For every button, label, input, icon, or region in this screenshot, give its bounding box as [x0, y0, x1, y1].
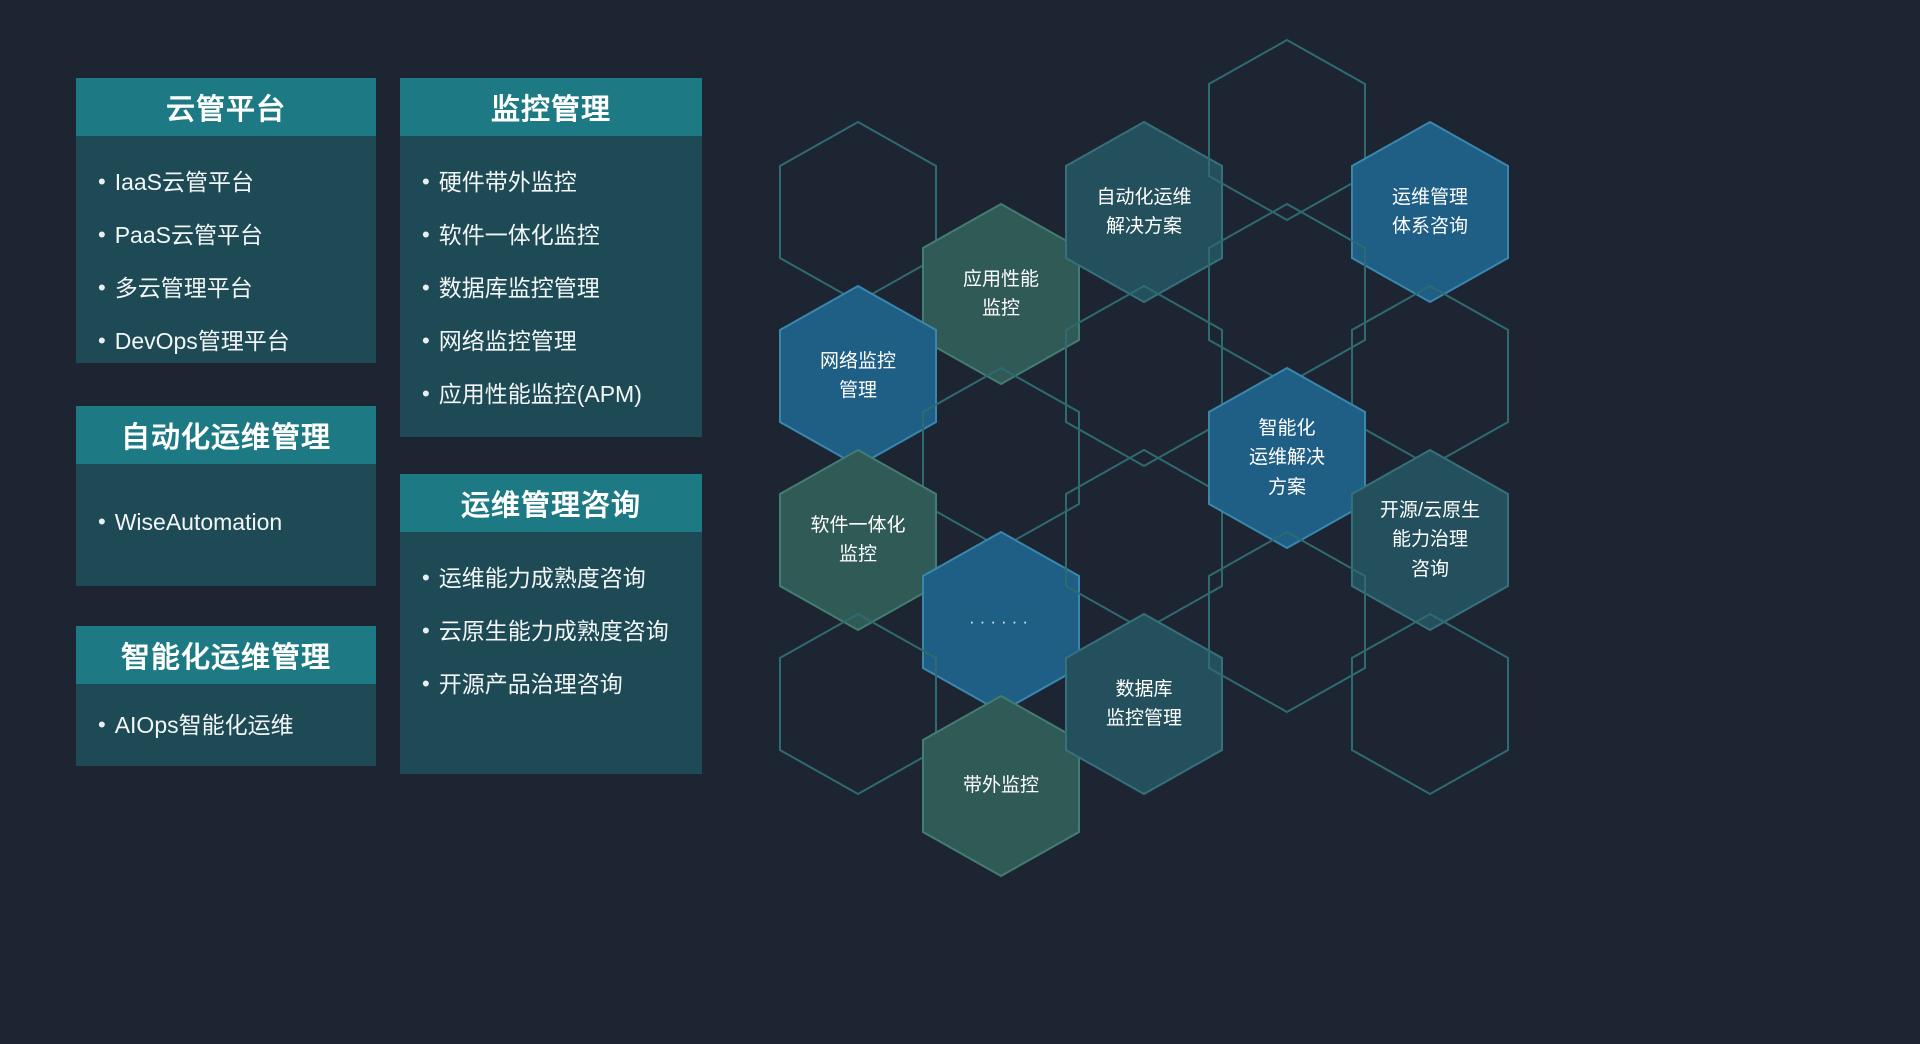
hexagon-cell: 智能化运维解决方案: [1207, 366, 1367, 550]
hexagon-cell: [1207, 530, 1367, 714]
list-item-label: DevOps管理平台: [115, 326, 366, 357]
list-item-label: WiseAutomation: [115, 507, 366, 538]
list-item-label: 云原生能力成熟度咨询: [439, 616, 692, 647]
list-item-label: 多云管理平台: [115, 273, 366, 304]
hexagon-shape-icon: [1350, 284, 1510, 468]
list-item-label: 开源产品治理咨询: [439, 669, 692, 700]
hexagon-cell: 软件一体化监控: [778, 448, 938, 632]
hexagon-cell: [1350, 612, 1510, 796]
hexagon-cell: [1207, 202, 1367, 386]
card-title: 监控管理: [400, 78, 702, 136]
hexagon-shape-icon: [1207, 530, 1367, 714]
hexagon-shape-icon: [1350, 120, 1510, 304]
list-item-label: 软件一体化监控: [439, 220, 692, 251]
list-item: •PaaS云管平台: [98, 220, 366, 251]
card-body: •AIOps智能化运维: [76, 684, 376, 766]
hexagon-diagram: 应用性能监控自动化运维解决方案运维管理体系咨询网络监控管理软件一体化监控····…: [760, 0, 1920, 1044]
hexagon-shape-icon: [1064, 448, 1224, 632]
hexagon-shape-icon: [1350, 448, 1510, 632]
hexagon-cell: [921, 366, 1081, 550]
card-title: 运维管理咨询: [400, 474, 702, 532]
list-item: •开源产品治理咨询: [422, 669, 692, 700]
hexagon-cell: 应用性能监控: [921, 202, 1081, 386]
card-body: •硬件带外监控•软件一体化监控•数据库监控管理•网络监控管理•应用性能监控(AP…: [400, 136, 702, 437]
hexagon-shape-icon: [1207, 366, 1367, 550]
list-item: •硬件带外监控: [422, 167, 692, 198]
bullet-dot-icon: •: [98, 710, 106, 740]
bullet-dot-icon: •: [98, 273, 106, 303]
hexagon-shape-icon: [921, 202, 1081, 386]
card-body: •IaaS云管平台•PaaS云管平台•多云管理平台•DevOps管理平台: [76, 136, 376, 363]
bullet-dot-icon: •: [422, 669, 430, 699]
hexagon-cell: [778, 120, 938, 304]
list-item: •软件一体化监控: [422, 220, 692, 251]
hexagon-cell: ······: [921, 530, 1081, 714]
hexagon-shape-icon: [1064, 120, 1224, 304]
hexagon-cell: 带外监控: [921, 694, 1081, 878]
bullet-dot-icon: •: [422, 326, 430, 356]
bullet-dot-icon: •: [98, 220, 106, 250]
card-body: •运维能力成熟度咨询•云原生能力成熟度咨询•开源产品治理咨询: [400, 532, 702, 774]
list-item: •AIOps智能化运维: [98, 710, 366, 741]
list-item: •应用性能监控(APM): [422, 379, 692, 410]
bullet-dot-icon: •: [98, 326, 106, 356]
bullet-dot-icon: •: [422, 563, 430, 593]
list-item-label: 应用性能监控(APM): [439, 379, 692, 410]
card-title: 云管平台: [76, 78, 376, 136]
list-item: •WiseAutomation: [98, 507, 366, 538]
cards-panel: 云管平台•IaaS云管平台•PaaS云管平台•多云管理平台•DevOps管理平台…: [0, 0, 880, 1044]
list-item-label: 数据库监控管理: [439, 273, 692, 304]
card-title: 自动化运维管理: [76, 406, 376, 464]
bullet-dot-icon: •: [422, 273, 430, 303]
list-item: •数据库监控管理: [422, 273, 692, 304]
bullet-dot-icon: •: [98, 507, 106, 537]
list-item-label: 网络监控管理: [439, 326, 692, 357]
list-item: •DevOps管理平台: [98, 326, 366, 357]
hexagon-shape-icon: [1064, 284, 1224, 468]
hexagon-cell: [1064, 448, 1224, 632]
card-consult: 运维管理咨询•运维能力成熟度咨询•云原生能力成熟度咨询•开源产品治理咨询: [400, 474, 702, 774]
list-item-label: AIOps智能化运维: [115, 710, 366, 741]
card-monitor: 监控管理•硬件带外监控•软件一体化监控•数据库监控管理•网络监控管理•应用性能监…: [400, 78, 702, 437]
hexagon-cell: 网络监控管理: [778, 284, 938, 468]
hexagon-shape-icon: [778, 448, 938, 632]
hexagon-shape-icon: [1207, 38, 1367, 222]
card-title: 智能化运维管理: [76, 626, 376, 684]
hexagon-shape-icon: [1350, 612, 1510, 796]
hexagon-cell: 自动化运维解决方案: [1064, 120, 1224, 304]
hexagon-shape-icon: [921, 366, 1081, 550]
hexagon-cell: 数据库监控管理: [1064, 612, 1224, 796]
hexagon-shape-icon: [921, 530, 1081, 714]
hexagon-cell: [1207, 38, 1367, 222]
card-body: •WiseAutomation: [76, 464, 376, 586]
bullet-dot-icon: •: [422, 379, 430, 409]
hexagon-cell: 运维管理体系咨询: [1350, 120, 1510, 304]
list-item-label: IaaS云管平台: [115, 167, 366, 198]
hexagon-cell: [778, 612, 938, 796]
hexagon-shape-icon: [1064, 612, 1224, 796]
card-auto: 自动化运维管理•WiseAutomation: [76, 406, 376, 586]
list-item-label: 硬件带外监控: [439, 167, 692, 198]
bullet-dot-icon: •: [422, 616, 430, 646]
hexagon-shape-icon: [1207, 202, 1367, 386]
hexagon-shape-icon: [778, 284, 938, 468]
list-item-label: 运维能力成熟度咨询: [439, 563, 692, 594]
hexagon-shape-icon: [778, 612, 938, 796]
bullet-dot-icon: •: [422, 167, 430, 197]
hexagon-cell: [1350, 284, 1510, 468]
list-item: •网络监控管理: [422, 326, 692, 357]
list-item: •多云管理平台: [98, 273, 366, 304]
hexagon-shape-icon: [778, 120, 938, 304]
list-item-label: PaaS云管平台: [115, 220, 366, 251]
bullet-dot-icon: •: [422, 220, 430, 250]
bullet-dot-icon: •: [98, 167, 106, 197]
card-cloud: 云管平台•IaaS云管平台•PaaS云管平台•多云管理平台•DevOps管理平台: [76, 78, 376, 363]
list-item: •云原生能力成熟度咨询: [422, 616, 692, 647]
hexagon-shape-icon: [921, 694, 1081, 878]
card-aiops: 智能化运维管理•AIOps智能化运维: [76, 626, 376, 766]
hexagon-cell: 开源/云原生能力治理咨询: [1350, 448, 1510, 632]
list-item: •IaaS云管平台: [98, 167, 366, 198]
hexagon-cell: [1064, 284, 1224, 468]
list-item: •运维能力成熟度咨询: [422, 563, 692, 594]
